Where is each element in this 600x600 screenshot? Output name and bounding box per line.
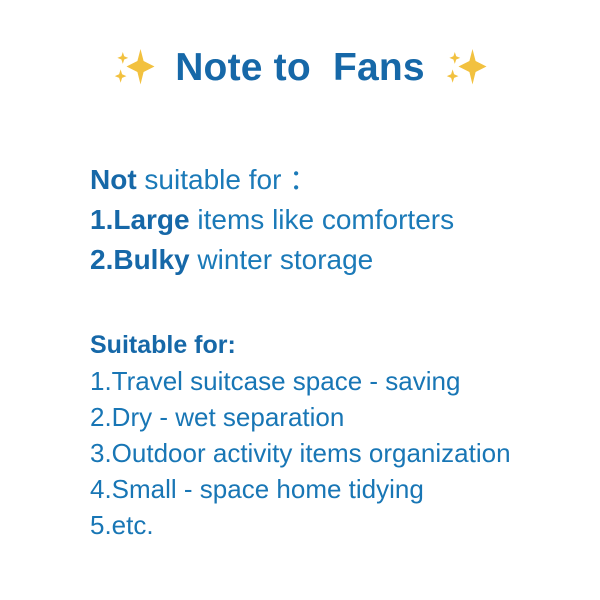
- not-suitable-item: 1.Large items like comforters: [90, 200, 454, 240]
- not-suitable-section: Not suitable for ： 1.Large items like co…: [90, 160, 454, 280]
- not-suitable-item-label: 2.Bulky: [90, 244, 190, 275]
- note-to-fans-card: Note to Fans Not suitable for ： 1.Large …: [0, 0, 600, 600]
- not-suitable-item: 2.Bulky winter storage: [90, 240, 454, 280]
- title-row: Note to Fans: [0, 44, 600, 90]
- page-title: Note to Fans: [175, 48, 425, 87]
- not-suitable-heading: Not suitable for ：: [90, 160, 454, 200]
- not-suitable-item-text: items like comforters: [190, 204, 455, 235]
- suitable-list-item: 5.etc.: [90, 507, 511, 543]
- suitable-section: Suitable for: 1.Travel suitcase space - …: [90, 327, 511, 543]
- suitable-heading: Suitable for:: [90, 327, 511, 363]
- sparkles-icon: [443, 44, 489, 90]
- suitable-list-item: 3.Outdoor activity items organization: [90, 435, 511, 471]
- not-suitable-item-text: winter storage: [190, 244, 374, 275]
- suitable-list-item: 2.Dry - wet separation: [90, 399, 511, 435]
- suitable-list-item: 4.Small - space home tidying: [90, 471, 511, 507]
- not-suitable-heading-bold: Not: [90, 164, 137, 195]
- sparkles-icon: [111, 44, 157, 90]
- suitable-list-item: 1.Travel suitcase space - saving: [90, 363, 511, 399]
- not-suitable-item-label: 1.Large: [90, 204, 190, 235]
- not-suitable-heading-rest: suitable for ：: [137, 164, 318, 195]
